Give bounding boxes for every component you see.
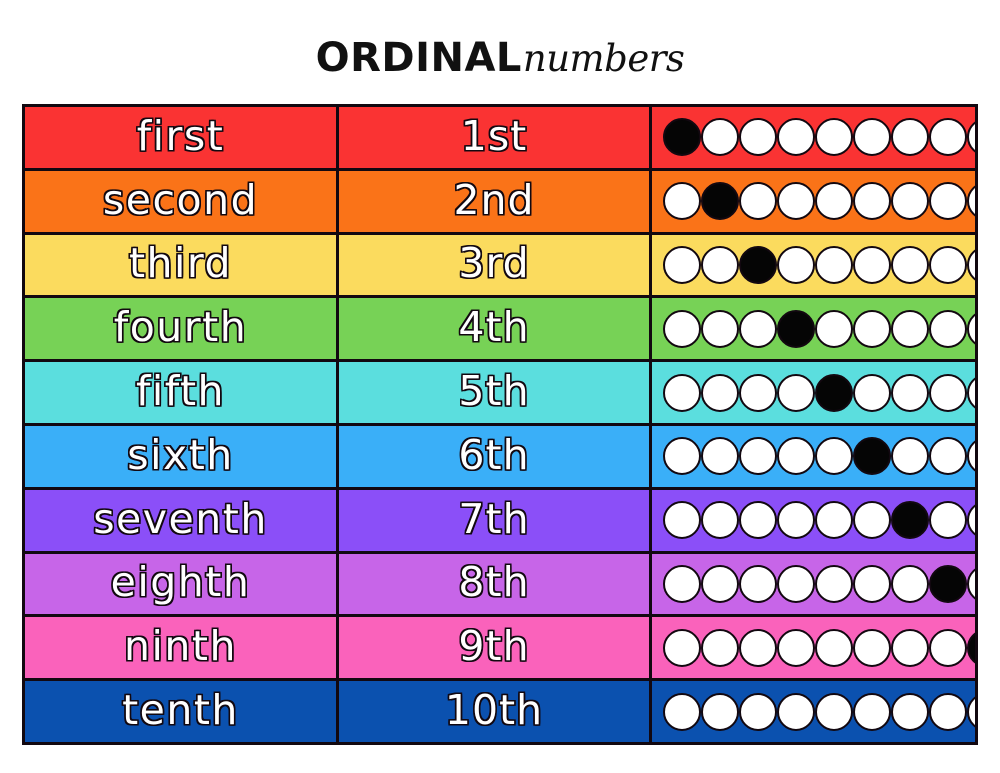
table-row: third3rd (25, 235, 975, 299)
ordinal-dots-cell (652, 235, 975, 296)
ordinal-dots-cell (652, 362, 975, 423)
table-row: first1st (25, 107, 975, 171)
ordinal-abbreviation-label: 5th (458, 371, 529, 412)
dot-empty (663, 374, 701, 412)
ordinal-word-label: sixth (127, 435, 234, 476)
ordinal-word-label: fourth (114, 307, 247, 348)
dot-empty (739, 565, 777, 603)
dot-empty (777, 565, 815, 603)
dot-filled (929, 565, 967, 603)
page-title: ORDINALnumbers (0, 38, 1000, 78)
dot-empty (663, 501, 701, 539)
ordinal-abbreviation-cell: 10th (339, 681, 652, 742)
ordinal-abbreviation-label: 10th (445, 690, 543, 731)
ordinal-word-label: first (137, 116, 225, 157)
ordinal-abbreviation-cell: 4th (339, 298, 652, 359)
dot-empty (967, 501, 975, 539)
dot-empty (853, 310, 891, 348)
dot-empty (891, 374, 929, 412)
dot-empty (929, 693, 967, 731)
dot-empty (815, 501, 853, 539)
dot-filled (777, 310, 815, 348)
dot-empty (701, 565, 739, 603)
ordinal-word-label: tenth (122, 690, 239, 731)
dot-empty (929, 118, 967, 156)
ordinal-dots-cell (652, 171, 975, 232)
ordinal-abbreviation-label: 6th (458, 435, 529, 476)
dot-empty (853, 501, 891, 539)
dot-empty (701, 310, 739, 348)
dot-empty (891, 310, 929, 348)
dot-empty (777, 246, 815, 284)
table-row: tenth10th (25, 681, 975, 742)
dot-empty (929, 182, 967, 220)
table-row: eighth8th (25, 554, 975, 618)
ordinal-dots-cell (652, 426, 975, 487)
dot-filled (663, 118, 701, 156)
dot-empty (663, 629, 701, 667)
dot-empty (777, 118, 815, 156)
dot-empty (853, 374, 891, 412)
dot-empty (777, 501, 815, 539)
title-word-ordinal: ORDINAL (316, 35, 522, 81)
dot-empty (967, 437, 975, 475)
dot-empty (815, 437, 853, 475)
dot-filled (967, 629, 975, 667)
dot-empty (929, 501, 967, 539)
dot-empty (853, 565, 891, 603)
dot-empty (929, 246, 967, 284)
ordinal-abbreviation-cell: 7th (339, 490, 652, 551)
ordinal-dots-cell (652, 554, 975, 615)
dot-empty (739, 693, 777, 731)
dot-empty (891, 565, 929, 603)
ordinal-word-label: seventh (93, 499, 268, 540)
ordinal-dots-cell (652, 107, 975, 168)
dot-empty (739, 437, 777, 475)
ordinal-dots-cell (652, 617, 975, 678)
ordinal-word-cell: tenth (25, 681, 339, 742)
dot-empty (739, 374, 777, 412)
table-row: sixth6th (25, 426, 975, 490)
dot-empty (777, 693, 815, 731)
dot-empty (815, 565, 853, 603)
dot-empty (739, 629, 777, 667)
dot-empty (663, 565, 701, 603)
ordinal-abbreviation-cell: 8th (339, 554, 652, 615)
ordinal-abbreviation-label: 7th (458, 499, 529, 540)
dot-empty (815, 310, 853, 348)
dot-empty (739, 310, 777, 348)
dot-empty (891, 118, 929, 156)
ordinal-word-cell: seventh (25, 490, 339, 551)
ordinal-abbreviation-label: 3rd (458, 243, 529, 284)
dot-empty (701, 693, 739, 731)
dot-empty (701, 246, 739, 284)
ordinal-word-label: fifth (136, 371, 225, 412)
dot-empty (663, 437, 701, 475)
dot-empty (663, 693, 701, 731)
dot-empty (967, 182, 975, 220)
dot-filled (739, 246, 777, 284)
dot-empty (815, 118, 853, 156)
ordinal-abbreviation-label: 8th (458, 562, 529, 603)
ordinal-word-label: second (103, 180, 258, 221)
ordinal-abbreviation-cell: 9th (339, 617, 652, 678)
dot-empty (739, 118, 777, 156)
ordinal-word-cell: ninth (25, 617, 339, 678)
dot-empty (967, 693, 975, 731)
dot-empty (701, 374, 739, 412)
ordinal-word-cell: sixth (25, 426, 339, 487)
dot-empty (777, 182, 815, 220)
dot-empty (853, 182, 891, 220)
dot-empty (701, 501, 739, 539)
dot-empty (739, 501, 777, 539)
ordinal-numbers-table: first1stsecond2ndthird3rdfourth4thfifth5… (22, 104, 978, 745)
dot-filled (891, 501, 929, 539)
ordinal-abbreviation-cell: 6th (339, 426, 652, 487)
dot-empty (967, 565, 975, 603)
dot-empty (853, 246, 891, 284)
dot-empty (815, 629, 853, 667)
ordinal-word-cell: third (25, 235, 339, 296)
dot-empty (663, 182, 701, 220)
ordinal-abbreviation-cell: 2nd (339, 171, 652, 232)
ordinal-abbreviation-label: 2nd (453, 180, 534, 221)
dot-empty (815, 246, 853, 284)
dot-empty (777, 437, 815, 475)
ordinal-abbreviation-cell: 3rd (339, 235, 652, 296)
ordinal-dots-cell (652, 681, 975, 742)
dot-empty (701, 118, 739, 156)
dot-filled (815, 374, 853, 412)
dot-empty (815, 182, 853, 220)
dot-empty (891, 182, 929, 220)
ordinal-abbreviation-label: 1st (461, 116, 528, 157)
dot-empty (701, 629, 739, 667)
ordinal-word-cell: first (25, 107, 339, 168)
dot-empty (663, 246, 701, 284)
ordinal-dots-cell (652, 490, 975, 551)
dot-empty (967, 310, 975, 348)
dot-empty (739, 182, 777, 220)
table-row: ninth9th (25, 617, 975, 681)
dot-empty (815, 693, 853, 731)
table-row: seventh7th (25, 490, 975, 554)
dot-empty (853, 693, 891, 731)
dot-empty (853, 629, 891, 667)
table-row: second2nd (25, 171, 975, 235)
ordinal-word-label: eighth (111, 562, 251, 603)
ordinal-word-label: third (129, 243, 232, 284)
ordinal-abbreviation-label: 9th (458, 626, 529, 667)
dot-filled (701, 182, 739, 220)
ordinal-word-cell: eighth (25, 554, 339, 615)
dot-empty (967, 374, 975, 412)
table-row: fourth4th (25, 298, 975, 362)
dot-empty (929, 629, 967, 667)
ordinal-abbreviation-cell: 1st (339, 107, 652, 168)
dot-empty (891, 437, 929, 475)
dot-empty (929, 437, 967, 475)
ordinal-abbreviation-label: 4th (458, 307, 529, 348)
dot-empty (777, 629, 815, 667)
table-row: fifth5th (25, 362, 975, 426)
ordinal-word-cell: fourth (25, 298, 339, 359)
dot-empty (891, 693, 929, 731)
ordinal-word-label: ninth (124, 626, 237, 667)
dot-empty (777, 374, 815, 412)
ordinal-abbreviation-cell: 5th (339, 362, 652, 423)
dot-empty (701, 437, 739, 475)
dot-empty (967, 118, 975, 156)
ordinal-word-cell: second (25, 171, 339, 232)
dot-empty (929, 310, 967, 348)
dot-empty (929, 374, 967, 412)
dot-empty (967, 246, 975, 284)
dot-filled (853, 437, 891, 475)
dot-empty (853, 118, 891, 156)
dot-empty (891, 246, 929, 284)
dot-empty (891, 629, 929, 667)
ordinal-word-cell: fifth (25, 362, 339, 423)
dot-empty (663, 310, 701, 348)
title-word-numbers: numbers (523, 37, 685, 80)
ordinal-dots-cell (652, 298, 975, 359)
